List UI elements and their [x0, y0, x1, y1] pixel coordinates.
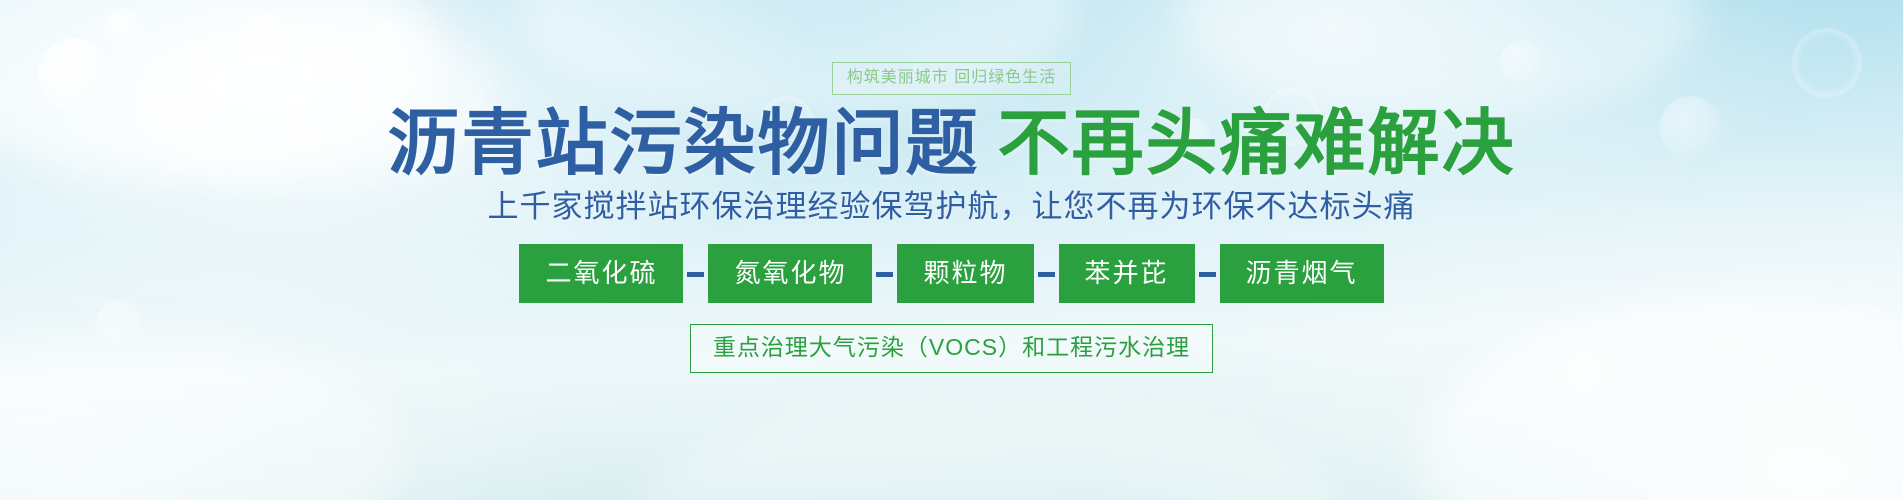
- tag-separator-dash-icon: [683, 250, 708, 298]
- pollutant-tag-3[interactable]: 苯并芘: [1059, 244, 1195, 303]
- tag-separator-dash-icon: [1195, 250, 1220, 298]
- pollutant-tag-0[interactable]: 二氧化硫: [519, 244, 683, 303]
- headline-part-blue: 沥青站污染物问题: [387, 101, 979, 185]
- tag-separator-dash-icon: [1034, 250, 1059, 298]
- pollutant-tag-1[interactable]: 氮氧化物: [708, 244, 872, 303]
- banner-tagline: 构筑美丽城市 回归绿色生活: [832, 62, 1071, 95]
- hero-banner: 构筑美丽城市 回归绿色生活 沥青站污染物问题不再头痛难解决 上千家搅拌站环保治理…: [0, 0, 1903, 500]
- pollutant-tag-list: 二氧化硫 氮氧化物 颗粒物 苯并芘 沥青烟气: [519, 244, 1383, 303]
- tag-separator-dash-icon: [872, 250, 897, 298]
- headline-part-green: 不再头痛难解决: [998, 101, 1516, 185]
- pollutant-tag-4[interactable]: 沥青烟气: [1220, 244, 1384, 303]
- banner-footnote: 重点治理大气污染（VOCS）和工程污水治理: [690, 324, 1213, 373]
- banner-subheadline: 上千家搅拌站环保治理经验保驾护航，让您不再为环保不达标头痛: [488, 191, 1416, 222]
- banner-headline: 沥青站污染物问题不再头痛难解决: [387, 107, 1515, 179]
- pollutant-tag-2[interactable]: 颗粒物: [897, 244, 1033, 303]
- banner-content: 构筑美丽城市 回归绿色生活 沥青站污染物问题不再头痛难解决 上千家搅拌站环保治理…: [0, 0, 1903, 500]
